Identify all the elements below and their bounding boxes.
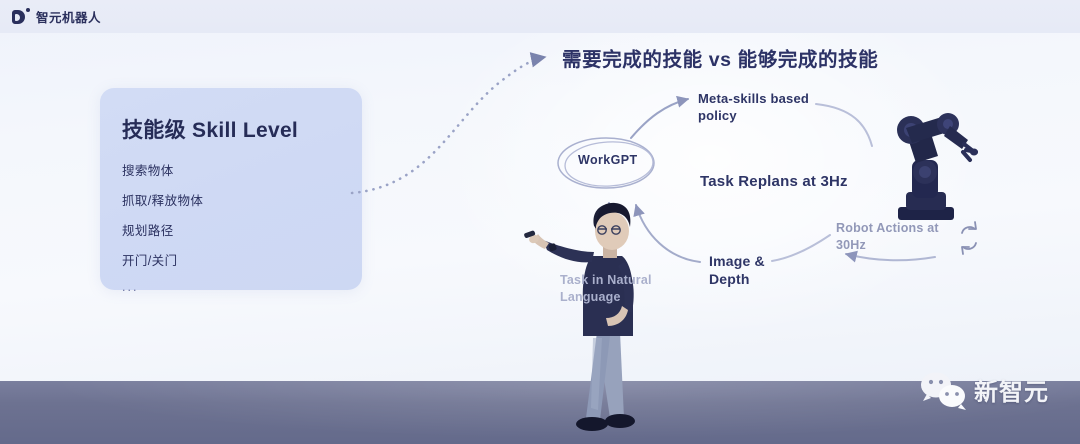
arrow-robot-actions [846,254,935,260]
label-meta-skills-line1: Meta-skills based [698,90,809,107]
label-workgpt: WorkGPT [578,152,638,169]
refresh-cycle-icon [962,222,976,254]
watermark-text: 新智元 [974,372,1049,407]
label-task-natural-line2: Language [560,289,652,306]
label-task-natural-language: Task in Natural Language [560,272,652,305]
arrow-workgpt-to-meta [631,99,688,138]
label-meta-skills-line2: policy [698,107,809,124]
label-image-depth-line1: Image & [709,252,765,270]
presenter [524,203,635,431]
slide-photo: 智元机器人 技能级 Skill Level 搜索物体 抓取/释放物体 规划路径 … [0,0,1080,444]
label-robot-actions-line1: Robot Actions at [836,220,939,237]
watermark: 新智元 [915,372,1049,407]
label-image-depth: Image & Depth [709,252,765,289]
dotted-connector-arrow [352,57,545,193]
label-robot-actions: Robot Actions at 30Hz [836,220,939,253]
label-image-depth-line2: Depth [709,270,765,288]
arc-meta-to-robot [816,104,872,146]
label-task-replans: Task Replans at 3Hz [700,172,848,192]
label-task-natural-line1: Task in Natural [560,272,652,289]
robot-arm-image [897,113,978,220]
arrow-image-to-workgpt [636,205,700,262]
label-robot-actions-line2: 30Hz [836,237,939,254]
arc-robot-to-image [772,235,830,261]
label-meta-skills: Meta-skills based policy [698,90,809,124]
